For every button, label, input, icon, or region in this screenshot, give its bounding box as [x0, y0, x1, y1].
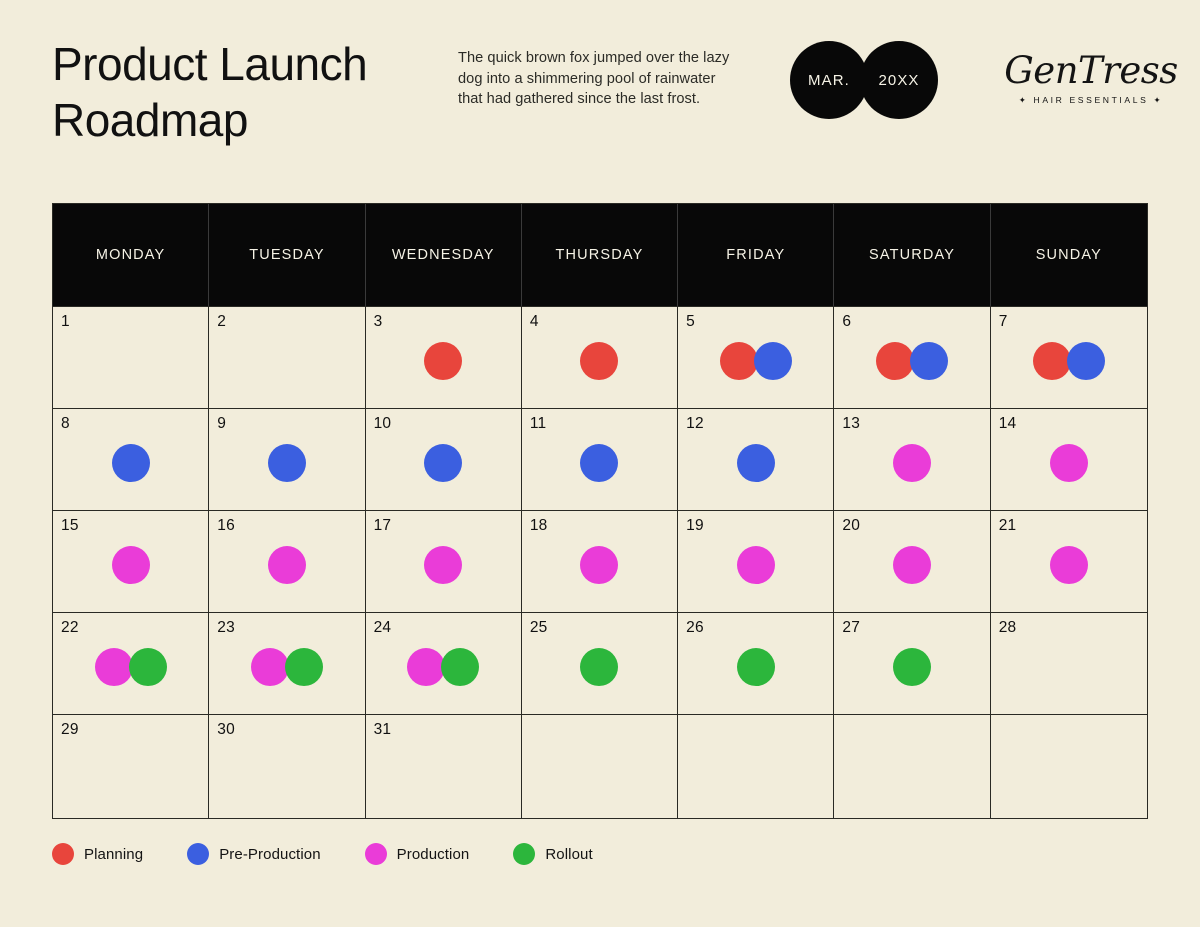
phase-dot-group: [678, 546, 833, 584]
calendar-day-cell[interactable]: 11: [522, 408, 678, 510]
calendar-empty-cell: [522, 714, 678, 818]
brand-logo: GenTress ✦ HAIR ESSENTIALS ✦: [996, 50, 1186, 106]
calendar-day-cell[interactable]: 21: [991, 510, 1147, 612]
phase-dot-production[interactable]: [893, 546, 931, 584]
calendar-body: 1234567891011121314151617181920212223242…: [53, 306, 1147, 818]
calendar-day-header: MONDAY: [53, 204, 209, 306]
calendar-day-cell[interactable]: 2: [209, 306, 365, 408]
legend-item-production[interactable]: Production: [365, 843, 470, 865]
calendar-week-row: 891011121314: [53, 408, 1147, 510]
calendar-day-number: 6: [842, 313, 851, 331]
calendar-day-number: 15: [61, 517, 79, 535]
calendar-day-header: WEDNESDAY: [366, 204, 522, 306]
calendar-day-cell[interactable]: 9: [209, 408, 365, 510]
phase-dot-planning[interactable]: [720, 342, 758, 380]
calendar-day-number: 22: [61, 619, 79, 637]
calendar-day-number: 3: [374, 313, 383, 331]
phase-dot-pre-production[interactable]: [580, 444, 618, 482]
phase-dot-group: [991, 546, 1147, 584]
calendar-day-number: 21: [999, 517, 1017, 535]
calendar-day-cell[interactable]: 14: [991, 408, 1147, 510]
phase-dot-production[interactable]: [737, 546, 775, 584]
calendar-day-cell[interactable]: 22: [53, 612, 209, 714]
phase-dot-group: [991, 444, 1147, 482]
calendar-day-cell[interactable]: 1: [53, 306, 209, 408]
phase-dot-group: [834, 648, 989, 686]
phase-dot-production[interactable]: [268, 546, 306, 584]
calendar-day-number: 31: [374, 721, 392, 739]
calendar-week-row: 293031: [53, 714, 1147, 818]
calendar-day-cell[interactable]: 8: [53, 408, 209, 510]
phase-dot-rollout[interactable]: [737, 648, 775, 686]
calendar-day-cell[interactable]: 30: [209, 714, 365, 818]
calendar-day-cell[interactable]: 12: [678, 408, 834, 510]
legend: PlanningPre-ProductionProductionRollout: [52, 843, 637, 865]
phase-dot-pre-production[interactable]: [737, 444, 775, 482]
calendar-day-cell[interactable]: 3: [366, 306, 522, 408]
phase-dot-group: [834, 342, 989, 380]
calendar-day-cell[interactable]: 31: [366, 714, 522, 818]
calendar-day-number: 29: [61, 721, 79, 739]
calendar-day-number: 24: [374, 619, 392, 637]
phase-dot-rollout[interactable]: [580, 648, 618, 686]
calendar-day-number: 27: [842, 619, 860, 637]
calendar-empty-cell: [991, 714, 1147, 818]
phase-dot-group: [522, 342, 677, 380]
legend-label: Pre-Production: [219, 846, 320, 863]
phase-dot-group: [834, 546, 989, 584]
calendar-day-header: SUNDAY: [991, 204, 1147, 306]
phase-dot-group: [678, 342, 833, 380]
phase-dot-rollout[interactable]: [893, 648, 931, 686]
phase-dot-group: [53, 648, 208, 686]
phase-dot-group: [366, 546, 521, 584]
intro-paragraph: The quick brown fox jumped over the lazy…: [458, 48, 742, 110]
phase-dot-planning[interactable]: [424, 342, 462, 380]
calendar-week-row: 22232425262728: [53, 612, 1147, 714]
phase-dot-rollout[interactable]: [285, 648, 323, 686]
phase-dot-group: [522, 648, 677, 686]
calendar-day-number: 13: [842, 415, 860, 433]
page-header: Product Launch Roadmap The quick brown f…: [52, 36, 1164, 166]
phase-dot-production[interactable]: [424, 546, 462, 584]
legend-dot-production: [365, 843, 387, 865]
phase-dot-production[interactable]: [251, 648, 289, 686]
calendar-day-number: 2: [217, 313, 226, 331]
page-title: Product Launch Roadmap: [52, 36, 452, 148]
phase-dot-group: [53, 546, 208, 584]
page-title-line-2: Roadmap: [52, 92, 452, 148]
phase-dot-rollout[interactable]: [129, 648, 167, 686]
calendar-day-number: 23: [217, 619, 235, 637]
brand-logo-tagline: ✦ HAIR ESSENTIALS ✦: [996, 95, 1186, 106]
calendar-day-header: TUESDAY: [209, 204, 365, 306]
phase-dot-pre-production[interactable]: [424, 444, 462, 482]
calendar-day-number: 1: [61, 313, 70, 331]
phase-dot-group: [209, 444, 364, 482]
phase-dot-production[interactable]: [580, 546, 618, 584]
calendar-day-cell[interactable]: 28: [991, 612, 1147, 714]
calendar-day-number: 7: [999, 313, 1008, 331]
date-badge-group: MAR. 20XX: [790, 41, 938, 119]
phase-dot-group: [366, 444, 521, 482]
phase-dot-group: [209, 546, 364, 584]
calendar-day-cell[interactable]: 18: [522, 510, 678, 612]
page-title-line-1: Product Launch: [52, 36, 452, 92]
calendar-day-number: 4: [530, 313, 539, 331]
month-badge: MAR.: [790, 41, 868, 119]
phase-dot-group: [366, 648, 521, 686]
phase-dot-group: [678, 444, 833, 482]
year-badge: 20XX: [860, 41, 938, 119]
calendar-header-row: MONDAYTUESDAYWEDNESDAYTHURSDAYFRIDAYSATU…: [53, 204, 1147, 306]
calendar-day-number: 9: [217, 415, 226, 433]
calendar-day-cell[interactable]: 7: [991, 306, 1147, 408]
legend-label: Production: [397, 846, 470, 863]
calendar-day-cell[interactable]: 24: [366, 612, 522, 714]
legend-label: Rollout: [545, 846, 592, 863]
calendar-week-row: 15161718192021: [53, 510, 1147, 612]
calendar-day-number: 30: [217, 721, 235, 739]
phase-dot-production[interactable]: [1050, 546, 1088, 584]
phase-dot-group: [991, 342, 1147, 380]
calendar-day-number: 12: [686, 415, 704, 433]
calendar-day-cell[interactable]: 16: [209, 510, 365, 612]
phase-dot-pre-production[interactable]: [1067, 342, 1105, 380]
phase-dot-group: [209, 648, 364, 686]
calendar-day-number: 8: [61, 415, 70, 433]
phase-dot-rollout[interactable]: [441, 648, 479, 686]
calendar-grid: MONDAYTUESDAYWEDNESDAYTHURSDAYFRIDAYSATU…: [52, 203, 1148, 819]
phase-dot-planning[interactable]: [876, 342, 914, 380]
phase-dot-planning[interactable]: [1033, 342, 1071, 380]
calendar-day-cell[interactable]: 13: [834, 408, 990, 510]
calendar-day-cell[interactable]: 27: [834, 612, 990, 714]
calendar-day-cell[interactable]: 25: [522, 612, 678, 714]
legend-item-planning[interactable]: Planning: [52, 843, 143, 865]
calendar-day-header: THURSDAY: [522, 204, 678, 306]
calendar-day-cell[interactable]: 19: [678, 510, 834, 612]
calendar-day-cell[interactable]: 29: [53, 714, 209, 818]
phase-dot-group: [834, 444, 989, 482]
phase-dot-production[interactable]: [893, 444, 931, 482]
phase-dot-group: [522, 444, 677, 482]
phase-dot-pre-production[interactable]: [112, 444, 150, 482]
legend-item-pre-production[interactable]: Pre-Production: [187, 843, 320, 865]
calendar-day-number: 11: [530, 415, 547, 433]
phase-dot-production[interactable]: [95, 648, 133, 686]
phase-dot-pre-production[interactable]: [910, 342, 948, 380]
calendar-week-row: 1234567: [53, 306, 1147, 408]
calendar-day-header: SATURDAY: [834, 204, 990, 306]
legend-label: Planning: [84, 846, 143, 863]
legend-item-rollout[interactable]: Rollout: [513, 843, 592, 865]
phase-dot-production[interactable]: [1050, 444, 1088, 482]
calendar-day-number: 19: [686, 517, 704, 535]
phase-dot-planning[interactable]: [580, 342, 618, 380]
phase-dot-production[interactable]: [112, 546, 150, 584]
calendar-day-header: FRIDAY: [678, 204, 834, 306]
calendar-day-cell[interactable]: 15: [53, 510, 209, 612]
legend-dot-planning: [52, 843, 74, 865]
calendar-day-number: 17: [374, 517, 392, 535]
calendar-day-cell[interactable]: 10: [366, 408, 522, 510]
phase-dot-group: [366, 342, 521, 380]
calendar-day-cell[interactable]: 6: [834, 306, 990, 408]
phase-dot-group: [678, 648, 833, 686]
calendar-day-number: 14: [999, 415, 1017, 433]
calendar-day-number: 10: [374, 415, 392, 433]
phase-dot-pre-production[interactable]: [754, 342, 792, 380]
calendar-day-cell[interactable]: 20: [834, 510, 990, 612]
calendar-empty-cell: [834, 714, 990, 818]
calendar-day-number: 26: [686, 619, 704, 637]
calendar-day-cell[interactable]: 4: [522, 306, 678, 408]
brand-logo-name: GenTress: [996, 50, 1186, 92]
legend-dot-pre-production: [187, 843, 209, 865]
calendar-day-cell[interactable]: 23: [209, 612, 365, 714]
calendar-day-number: 28: [999, 619, 1017, 637]
phase-dot-group: [522, 546, 677, 584]
phase-dot-pre-production[interactable]: [268, 444, 306, 482]
calendar-day-number: 5: [686, 313, 695, 331]
calendar-day-cell[interactable]: 5: [678, 306, 834, 408]
calendar-day-cell[interactable]: 26: [678, 612, 834, 714]
calendar-day-number: 16: [217, 517, 235, 535]
calendar-day-number: 18: [530, 517, 548, 535]
calendar-empty-cell: [678, 714, 834, 818]
calendar-day-number: 20: [842, 517, 860, 535]
calendar-day-cell[interactable]: 17: [366, 510, 522, 612]
calendar-day-number: 25: [530, 619, 548, 637]
legend-dot-rollout: [513, 843, 535, 865]
phase-dot-group: [53, 444, 208, 482]
phase-dot-production[interactable]: [407, 648, 445, 686]
